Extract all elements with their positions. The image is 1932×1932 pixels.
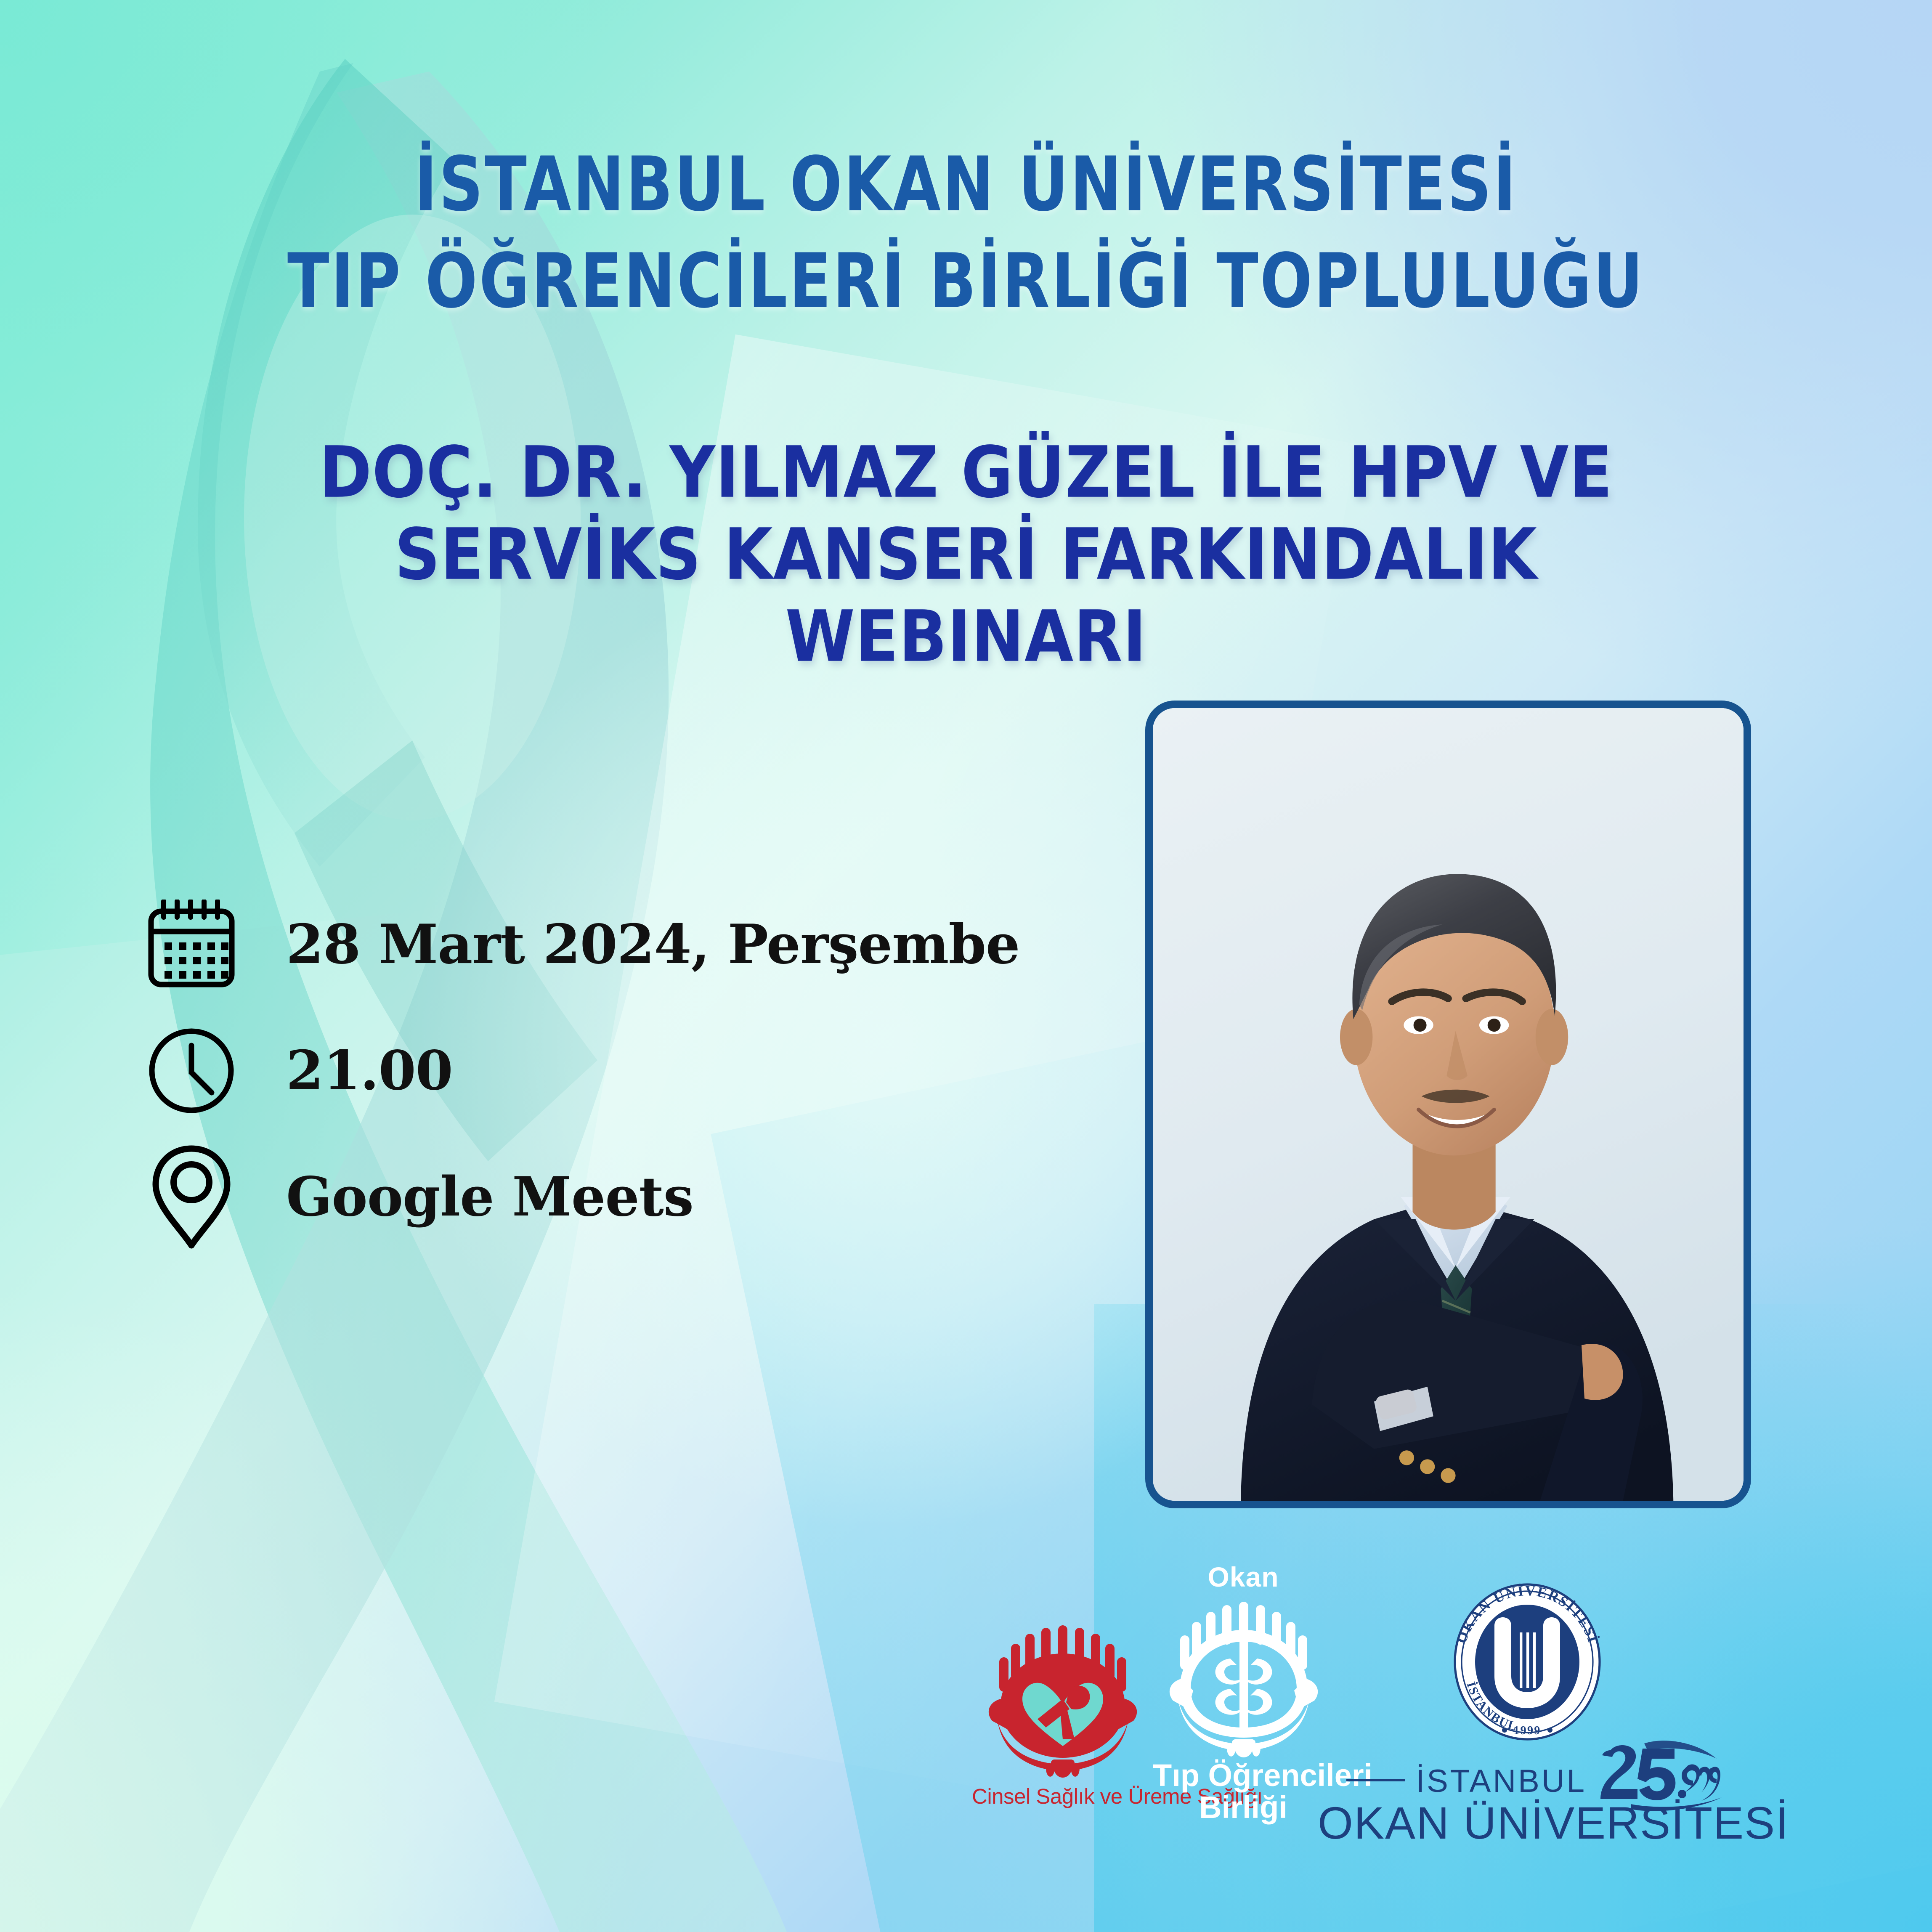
tob-caption-line-1: Tıp Öğrencileri bbox=[1153, 1759, 1334, 1791]
event-detail-time: 21.00 bbox=[139, 1008, 1019, 1134]
title-line-3: WEBINARI bbox=[0, 591, 1932, 683]
okan-wordmark-line-1: İSTANBUL bbox=[1416, 1763, 1587, 1799]
caduceus-sun-icon bbox=[1153, 1590, 1334, 1758]
event-location-label: Google Meets bbox=[286, 1165, 693, 1229]
event-title: DOÇ. DR. YILMAZ GÜZEL İLE HPV VE SERVİKS… bbox=[0, 427, 1932, 673]
clock-icon bbox=[139, 1018, 244, 1123]
title-line-2: SERVİKS KANSERİ FARKINDALIK bbox=[0, 509, 1932, 601]
okan-wordmark: İSTANBUL OKAN ÜNİVERSİTESİ bbox=[1342, 1752, 1712, 1849]
logo-tip-ogrencileri-birligi: Okan bbox=[1153, 1561, 1334, 1823]
event-detail-location: Google Meets bbox=[139, 1134, 1019, 1260]
okan-wordmark-rule bbox=[1346, 1779, 1405, 1781]
location-pin-icon bbox=[139, 1144, 244, 1250]
heading-line-1: İSTANBUL OKAN ÜNİVERSİTESİ bbox=[0, 135, 1932, 234]
webinar-poster: İSTANBUL OKAN ÜNİVERSİTESİ TIP ÖĞRENCİLE… bbox=[0, 0, 1932, 1932]
speaker-photo bbox=[1153, 708, 1744, 1501]
event-detail-date: 28 Mart 2024, Perşembe bbox=[139, 881, 1019, 1008]
okan-25th-anniversary-icon bbox=[1599, 1740, 1738, 1816]
speaker-photo-frame bbox=[1145, 701, 1751, 1508]
event-time-label: 21.00 bbox=[286, 1039, 453, 1102]
partner-logos-row: Cinsel Sağlık ve Üreme Sağlığı Okan bbox=[959, 1557, 1885, 1906]
event-details-list: 28 Mart 2024, Perşembe 21.00 Google Meet… bbox=[139, 881, 1019, 1260]
tob-caption-line-2: Birliği bbox=[1153, 1791, 1334, 1823]
tob-okan-label: Okan bbox=[1153, 1561, 1334, 1593]
csus-heart-ribbon-icon bbox=[972, 1611, 1153, 1780]
event-date-label: 28 Mart 2024, Perşembe bbox=[286, 913, 1019, 976]
heading-line-2: TIP ÖĞRENCİLERİ BİRLİĞİ TOPLULUĞU bbox=[0, 231, 1932, 331]
csus-caption: Cinsel Sağlık ve Üreme Sağlığı bbox=[972, 1784, 1153, 1809]
logo-okan-universitesi: OKAN ÜNİVERSİTESİ İSTANBUL 1999 bbox=[1342, 1574, 1712, 1849]
okan-university-seal-icon: OKAN ÜNİVERSİTESİ İSTANBUL 1999 bbox=[1439, 1574, 1616, 1750]
organization-heading: İSTANBUL OKAN ÜNİVERSİTESİ TIP ÖĞRENCİLE… bbox=[0, 135, 1932, 313]
svg-text:1999: 1999 bbox=[1513, 1724, 1541, 1737]
logo-csus: Cinsel Sağlık ve Üreme Sağlığı bbox=[972, 1611, 1153, 1809]
title-line-1: DOÇ. DR. YILMAZ GÜZEL İLE HPV VE bbox=[0, 427, 1932, 519]
calendar-icon bbox=[139, 892, 244, 997]
